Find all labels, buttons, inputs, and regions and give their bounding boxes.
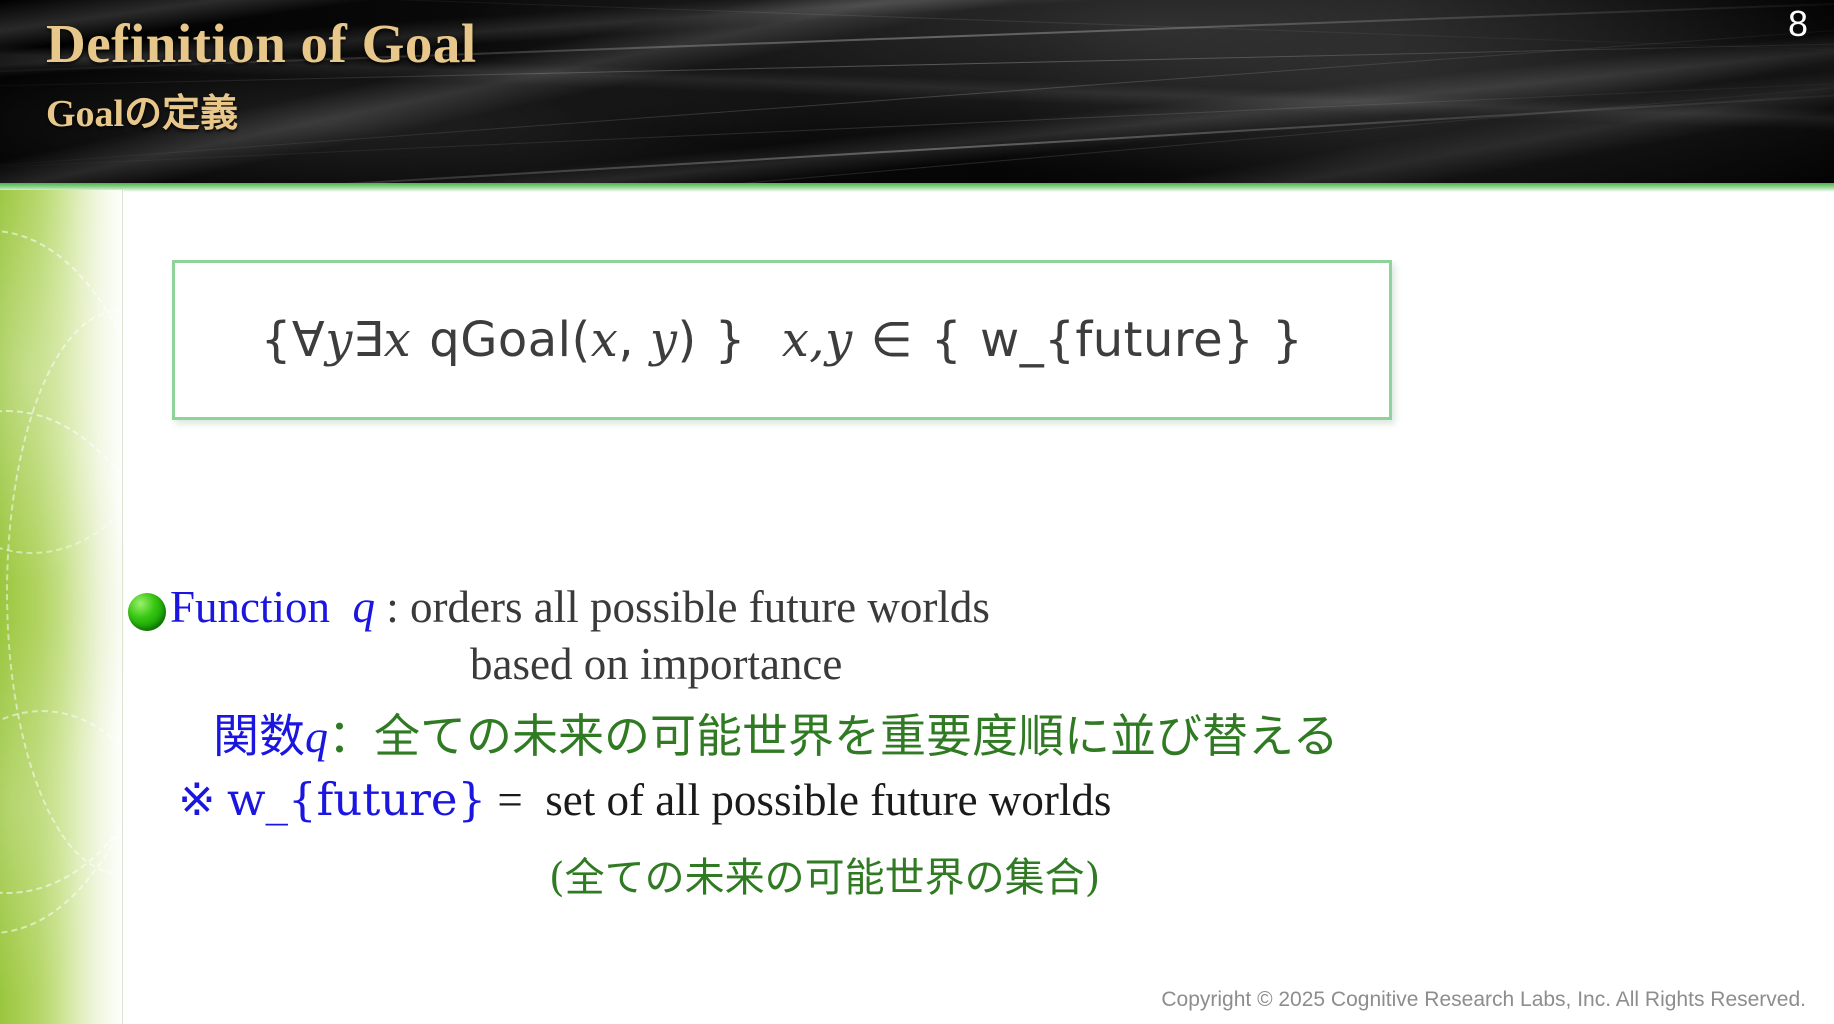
- formula-var-y: y: [325, 312, 353, 368]
- page-number: 8: [1788, 6, 1808, 42]
- formula-predicate-name: qGoal(: [429, 312, 591, 368]
- bullet-text-line-2: based on importance: [470, 638, 842, 690]
- formula-free-vars: x,y: [782, 312, 853, 368]
- page-title: Definition of Goal: [46, 12, 477, 75]
- formula-box: {∀y∃xqGoal(x, y)}x,y∈{w_{future}}: [172, 260, 1392, 420]
- formula-expression: {∀y∃xqGoal(x, y)}x,y∈{w_{future}}: [261, 312, 1303, 368]
- japanese-definition-line: 関数q：全ての未来の可能世界を重要度順に並び替える: [213, 700, 1339, 766]
- formula-set-open-brace: {: [931, 312, 962, 368]
- copyright-footer: Copyright © 2025 Cognitive Research Labs…: [1161, 988, 1806, 1012]
- formula-var-x: x: [384, 312, 412, 368]
- formula-set-name: w_{future}: [980, 312, 1254, 368]
- left-decorative-panel: [0, 190, 124, 1024]
- formula-forall-symbol: ∀: [292, 312, 325, 368]
- slide: Definition of Goal Goalの定義 8 {∀y∃xqGoal(…: [0, 0, 1834, 1024]
- function-label: Function: [170, 582, 330, 632]
- japanese-function-description: ：全ての未来の可能世界を重要度順に並び替える: [328, 709, 1339, 763]
- note-definition-text: set of all possible future worlds: [545, 775, 1111, 825]
- formula-close-brace: }: [715, 312, 746, 368]
- note-term-wfuture: w_{future}: [227, 773, 486, 826]
- formula-open-brace: {: [261, 312, 292, 368]
- formula-set-close-brace: }: [1272, 312, 1303, 368]
- note-equals-sign: =: [497, 775, 522, 825]
- note-marker-icon: ※: [178, 773, 216, 826]
- function-description: : orders all possible future worlds: [386, 582, 990, 632]
- formula-exists-symbol: ∃: [353, 312, 384, 368]
- slide-header: Definition of Goal Goalの定義 8: [0, 0, 1834, 183]
- panel-glow-overlay: [0, 190, 124, 1024]
- bullet-item-function: Function q : orders all possible future …: [128, 585, 990, 631]
- page-subtitle: Goalの定義: [46, 82, 238, 137]
- note-japanese-gloss: (全ての未来の可能世界の集合): [549, 845, 1100, 903]
- bullet-text-line-1: Function q : orders all possible future …: [170, 585, 990, 631]
- japanese-function-variable-q: q: [305, 711, 328, 762]
- formula-arg-y: y: [650, 312, 678, 368]
- function-variable-q: q: [353, 582, 376, 632]
- formula-comma: ,: [618, 312, 650, 368]
- formula-arg-x: x: [591, 312, 619, 368]
- formula-member-of-symbol: ∈: [871, 312, 913, 368]
- green-sphere-bullet-icon: [128, 593, 166, 631]
- panel-divider-line: [122, 190, 123, 1024]
- header-green-rule: [0, 183, 1834, 192]
- formula-close-paren: ): [677, 312, 696, 368]
- japanese-function-label: 関数: [213, 709, 305, 763]
- note-line: ※ w_{future} = set of all possible futur…: [178, 773, 1111, 826]
